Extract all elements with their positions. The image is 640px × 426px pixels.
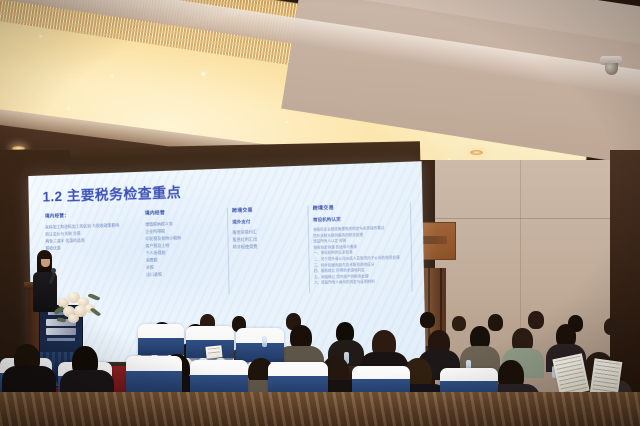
attendee-head	[452, 316, 466, 331]
column-line: 出口退税	[146, 271, 225, 280]
attendee-head	[528, 311, 544, 329]
column-subheading: 境外支付	[232, 217, 304, 225]
attendee-head	[420, 312, 435, 328]
security-camera-icon	[600, 56, 622, 76]
water-bottle	[262, 336, 267, 347]
attendee-head	[604, 318, 619, 335]
column-line: 特许权使用费	[233, 243, 305, 252]
slide-title: 1.2 主要税务检查重点	[42, 181, 181, 206]
ballroom-floor	[0, 392, 640, 426]
downlight-icon	[470, 150, 483, 155]
slide-column-4: 跨境交易 常设机构认定 非居民企业税收管理相关规定与实务操作要点 境外关联方提供…	[313, 202, 418, 286]
slide-column-3: 跨境交易 境外支付 服务贸易付汇 股息红利汇出 特许权使用费	[232, 205, 314, 287]
column-subheading: 常设机构认定	[313, 214, 407, 223]
slide-column-2: 境内经营 增值税纳税义务 企业所得税 印花税及其他小税种 房产税及土地 个人所得…	[145, 208, 234, 289]
printed-handout[interactable]	[205, 345, 222, 359]
column-heading: 跨境交易	[232, 206, 304, 214]
attendee-head	[488, 314, 503, 331]
slide-column-1: 境内经营： 来料加工和进料加工的区别 与税收政策影响 转让定价与关联 交易 两免…	[45, 211, 146, 291]
conference-room-photo: 1.2 主要税务检查重点 境内经营： 来料加工和进料加工的区别 与税收政策影响 …	[0, 0, 640, 426]
column-heading: 境内经营	[145, 208, 224, 217]
slide-columns: 境内经营： 来料加工和进料加工的区别 与税收政策影响 转让定价与关联 交易 两免…	[45, 202, 417, 290]
